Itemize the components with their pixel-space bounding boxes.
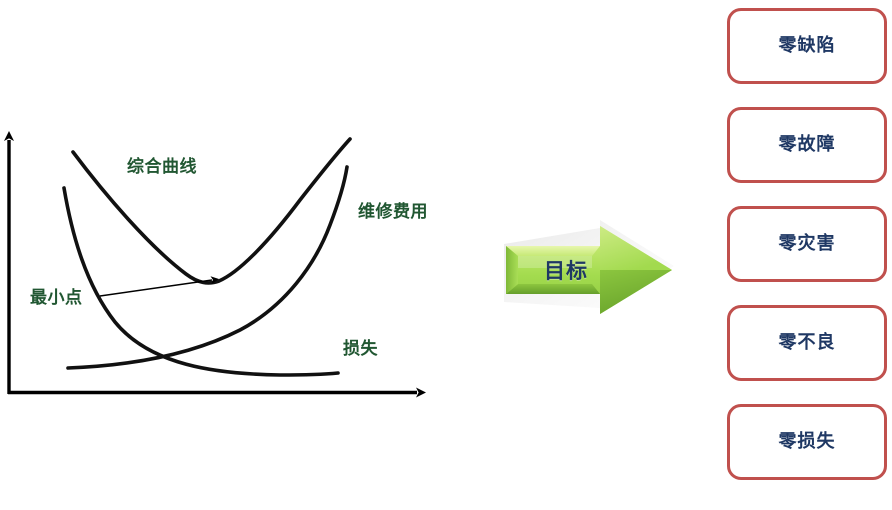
goal-box-zero-accident[interactable]: 零灾害 xyxy=(727,206,887,282)
right-arrow-icon xyxy=(496,218,682,322)
chart-label-minimum-point: 最小点 xyxy=(30,290,83,307)
chart-label-maintenance: 维修费用 xyxy=(358,204,428,221)
chart-label-loss: 损失 xyxy=(343,341,378,358)
chart-label-composite: 综合曲线 xyxy=(127,159,197,176)
minimum-point-leader-line xyxy=(100,280,212,296)
curve-composite xyxy=(73,139,350,283)
goal-box-label: 零缺陷 xyxy=(779,37,836,55)
cost-optimization-chart: 综合曲线 维修费用 最小点 损失 xyxy=(0,0,470,510)
arrow-bottom-bevel xyxy=(506,284,600,294)
goal-box-label: 零不良 xyxy=(779,334,836,352)
slide-canvas: 综合曲线 维修费用 最小点 损失 xyxy=(0,0,892,510)
goal-box-zero-loss[interactable]: 零损失 xyxy=(727,404,887,480)
chart-svg xyxy=(0,0,470,510)
goal-box-zero-breakdown[interactable]: 零故障 xyxy=(727,107,887,183)
goal-box-label: 零损失 xyxy=(779,433,836,451)
arrow-gloss xyxy=(518,256,592,268)
goal-box-label: 零故障 xyxy=(779,136,836,154)
arrow-head-bottom-facet xyxy=(600,270,672,314)
goal-box-zero-defect[interactable]: 零缺陷 xyxy=(727,8,887,84)
goal-box-zero-nonconformity[interactable]: 零不良 xyxy=(727,305,887,381)
zero-goals-list: 零缺陷 零故障 零灾害 零不良 零损失 xyxy=(727,0,889,510)
goal-arrow: 目标 xyxy=(496,218,682,322)
goal-box-label: 零灾害 xyxy=(779,235,836,253)
arrow-top-bevel xyxy=(506,246,600,256)
